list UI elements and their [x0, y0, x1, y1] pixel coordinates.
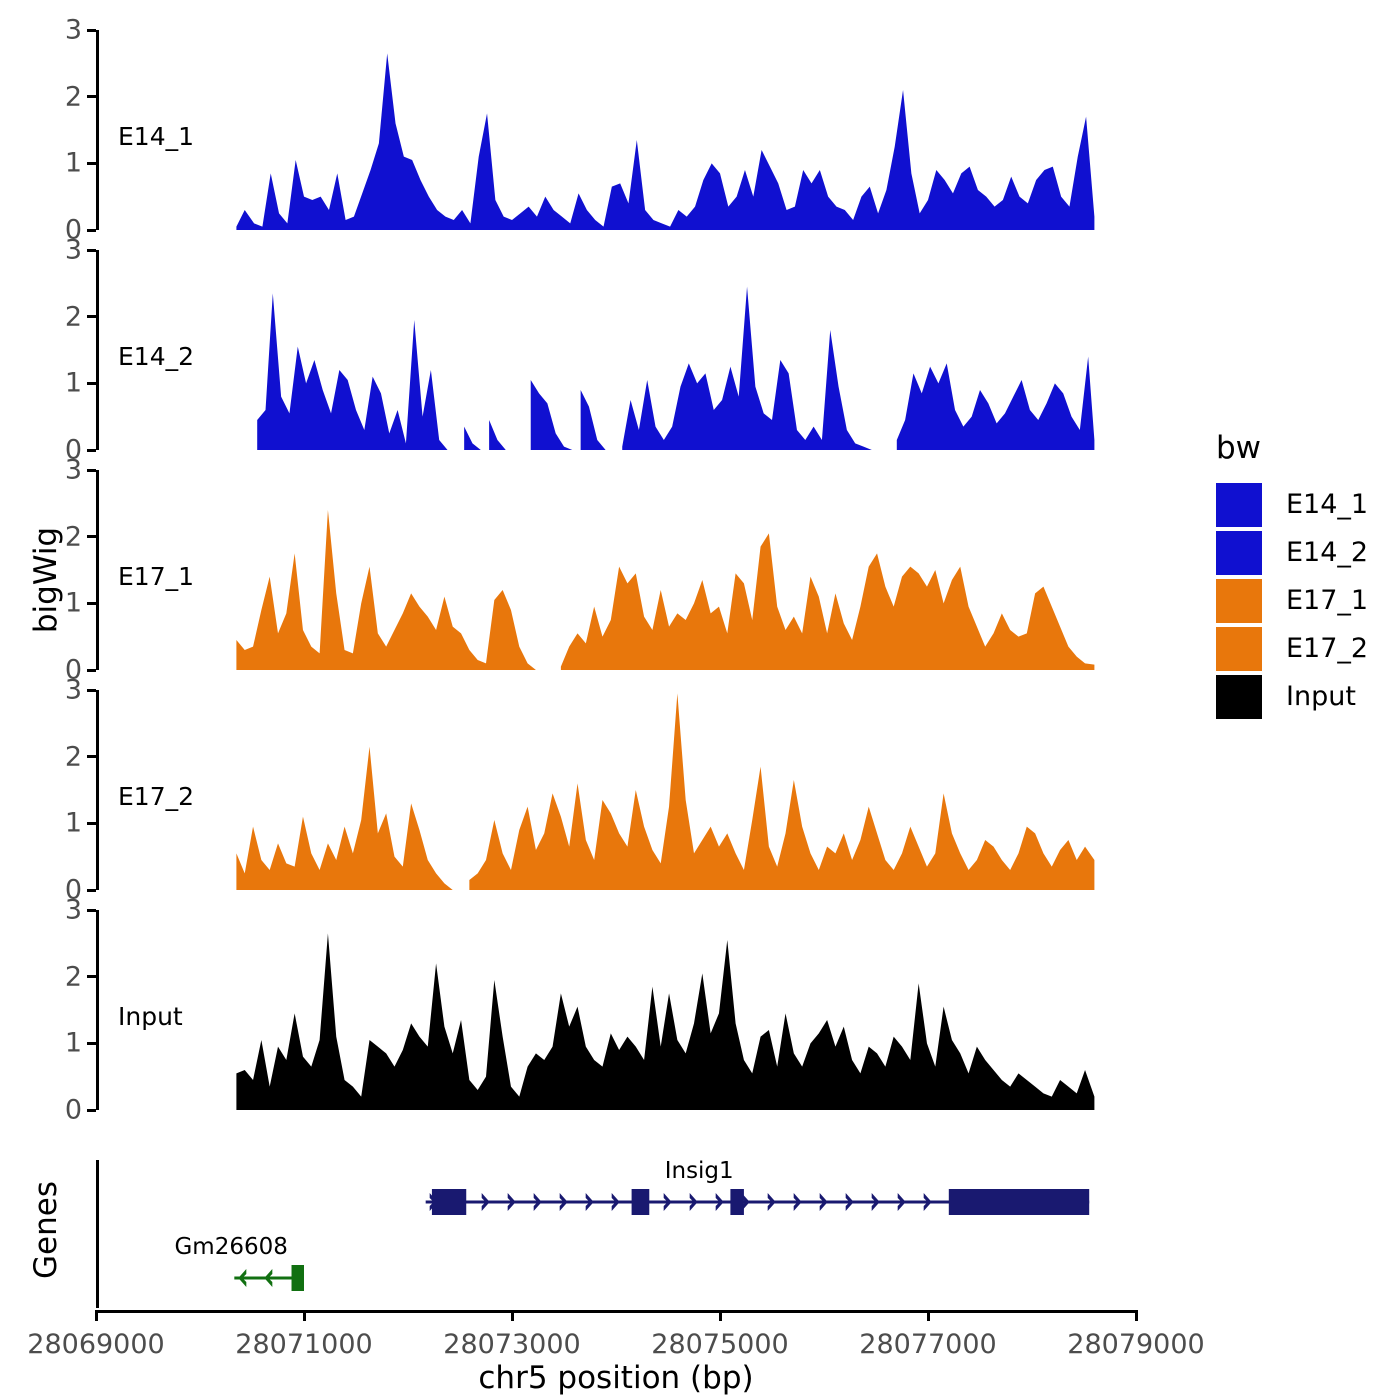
signal-area-e14_2	[96, 250, 1136, 450]
legend-swatch	[1216, 531, 1262, 575]
y-tick	[87, 29, 96, 32]
signal-area-input	[96, 910, 1136, 1110]
legend-label: E17_2	[1286, 633, 1368, 664]
x-tick-label: 28073000	[443, 1329, 580, 1360]
y-tick	[87, 975, 96, 978]
x-axis-title: chr5 position (bp)	[96, 1360, 1136, 1396]
x-tick-label: 28077000	[859, 1329, 996, 1360]
x-tick-label: 28079000	[1067, 1329, 1204, 1360]
track-panel-e17_2: 0123E17_2	[96, 690, 1136, 890]
legend: bw E14_1E14_2E17_1E17_2Input	[1216, 430, 1396, 722]
legend-label: E14_1	[1286, 489, 1368, 520]
y-axis-label-bigwig-text: bigWig	[28, 527, 64, 633]
y-tick	[87, 1109, 96, 1112]
x-tick	[511, 1310, 514, 1321]
signal-area-e17_1	[96, 470, 1136, 670]
y-axis-label-genes-text: Genes	[28, 1181, 64, 1279]
x-axis-line	[96, 1310, 1136, 1313]
y-tick	[87, 95, 96, 98]
legend-item-input[interactable]: Input	[1216, 674, 1396, 719]
y-tick	[87, 822, 96, 825]
x-tick-label: 28075000	[651, 1329, 788, 1360]
y-tick-label: 1	[65, 368, 82, 399]
x-tick-label: 28069000	[27, 1329, 164, 1360]
legend-label: E17_1	[1286, 585, 1368, 616]
x-tick	[303, 1310, 306, 1321]
y-tick-label: 3	[65, 455, 82, 486]
x-tick	[1135, 1310, 1138, 1321]
signal-area-e14_1	[96, 30, 1136, 230]
y-tick-label: 3	[65, 895, 82, 926]
legend-item-e14_2[interactable]: E14_2	[1216, 530, 1396, 575]
x-tick	[719, 1310, 722, 1321]
y-tick	[87, 669, 96, 672]
track-panel-e14_1: 0123E14_1	[96, 30, 1136, 230]
y-axis-label-genes: Genes	[16, 1150, 76, 1310]
legend-swatch	[1216, 675, 1262, 719]
y-tick	[87, 229, 96, 232]
y-tick	[87, 315, 96, 318]
y-tick	[87, 162, 96, 165]
gene-label-insig1: Insig1	[665, 1158, 734, 1184]
signal-area-e17_2	[96, 690, 1136, 890]
y-tick-label: 3	[65, 15, 82, 46]
y-tick-label: 2	[65, 521, 82, 552]
y-tick-label: 1	[65, 148, 82, 179]
track-panel-input: 0123Input	[96, 910, 1136, 1110]
x-tick-label: 28071000	[235, 1329, 372, 1360]
legend-label: E14_2	[1286, 537, 1368, 568]
y-tick	[87, 1042, 96, 1045]
legend-title: bw	[1216, 430, 1396, 466]
gene-track-panel: Insig1Gm26608	[96, 1160, 1136, 1310]
y-tick-label: 0	[65, 1095, 82, 1126]
y-tick	[87, 755, 96, 758]
legend-item-e17_1[interactable]: E17_1	[1216, 578, 1396, 623]
y-tick	[87, 249, 96, 252]
x-tick	[927, 1310, 930, 1321]
legend-rows: E14_1E14_2E17_1E17_2Input	[1216, 482, 1396, 719]
y-tick-label: 2	[65, 301, 82, 332]
legend-swatch	[1216, 483, 1262, 527]
y-tick	[87, 449, 96, 452]
y-tick	[87, 689, 96, 692]
legend-item-e17_2[interactable]: E17_2	[1216, 626, 1396, 671]
x-tick	[95, 1310, 98, 1321]
y-tick-label: 3	[65, 235, 82, 266]
legend-swatch	[1216, 627, 1262, 671]
y-tick	[87, 469, 96, 472]
legend-item-e14_1[interactable]: E14_1	[1216, 482, 1396, 527]
y-tick-label: 1	[65, 1028, 82, 1059]
y-tick-label: 1	[65, 808, 82, 839]
y-tick-label: 2	[65, 741, 82, 772]
legend-swatch	[1216, 579, 1262, 623]
legend-label: Input	[1286, 681, 1356, 712]
y-tick-label: 2	[65, 961, 82, 992]
y-tick	[87, 889, 96, 892]
y-tick	[87, 382, 96, 385]
y-tick	[87, 909, 96, 912]
gene-label-gm26608: Gm26608	[174, 1234, 287, 1260]
y-tick	[87, 602, 96, 605]
track-panel-e14_2: 0123E14_2	[96, 250, 1136, 450]
y-tick-label: 1	[65, 588, 82, 619]
y-tick-label: 2	[65, 81, 82, 112]
track-panel-e17_1: 0123E17_1	[96, 470, 1136, 670]
y-tick-label: 3	[65, 675, 82, 706]
y-tick	[87, 535, 96, 538]
